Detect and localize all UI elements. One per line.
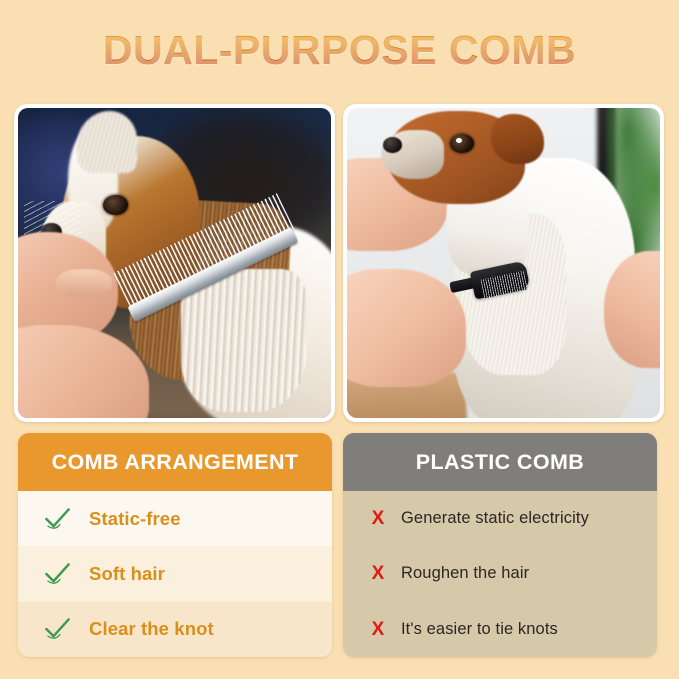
product-infographic: { "page": { "title": "DUAL-PURPOSE COMB"… <box>0 0 679 679</box>
list-item-label: Clear the knot <box>89 618 214 640</box>
page-title: DUAL-PURPOSE COMB <box>103 27 576 74</box>
check-icon <box>44 562 71 586</box>
plastic-comb-list: X Generate static electricity X Roughen … <box>343 491 657 657</box>
plastic-comb-panel: PLASTIC COMB X Generate static electrici… <box>343 433 657 657</box>
x-icon: X <box>370 509 386 528</box>
comparison-panels: COMB ARRANGEMENT Static-free Soft hair <box>18 433 662 657</box>
groomer-hand-left <box>347 269 466 387</box>
plastic-comb-header: PLASTIC COMB <box>343 433 657 491</box>
terrier-nose <box>383 137 402 153</box>
terrier-eye <box>450 134 473 153</box>
x-icon: X <box>370 620 386 639</box>
dog-white-fur <box>181 269 306 412</box>
comb-arrangement-title: COMB ARRANGEMENT <box>52 450 299 475</box>
list-item: X Roughen the hair <box>343 546 657 601</box>
metal-comb-photo-frame <box>14 104 335 422</box>
list-item: Clear the knot <box>18 602 332 657</box>
terrier-ear <box>491 114 544 164</box>
dog-ear-fluff <box>77 111 136 173</box>
check-icon <box>44 617 71 641</box>
comb-arrangement-header: COMB ARRANGEMENT <box>18 433 332 491</box>
plastic-comb-photo <box>347 108 660 418</box>
list-item-label: Static-free <box>89 508 181 530</box>
groomer-finger <box>56 269 112 297</box>
comb-arrangement-list: Static-free Soft hair Clear the knot <box>18 491 332 657</box>
plastic-comb-title: PLASTIC COMB <box>416 450 584 475</box>
list-item: Soft hair <box>18 546 332 601</box>
dog-eye <box>103 195 128 215</box>
metal-comb-photo <box>18 108 331 418</box>
list-item-label: It's easier to tie knots <box>401 620 558 639</box>
list-item: X Generate static electricity <box>343 491 657 546</box>
list-item-label: Generate static electricity <box>401 509 589 528</box>
plastic-comb-photo-frame <box>343 104 664 422</box>
list-item: Static-free <box>18 491 332 546</box>
check-icon <box>44 507 71 531</box>
x-icon: X <box>370 564 386 583</box>
list-item-label: Soft hair <box>89 563 165 585</box>
list-item: X It's easier to tie knots <box>343 602 657 657</box>
comb-arrangement-panel: COMB ARRANGEMENT Static-free Soft hair <box>18 433 332 657</box>
page-title-bar: DUAL-PURPOSE COMB <box>0 0 679 100</box>
photo-row <box>14 104 665 422</box>
list-item-label: Roughen the hair <box>401 564 529 583</box>
